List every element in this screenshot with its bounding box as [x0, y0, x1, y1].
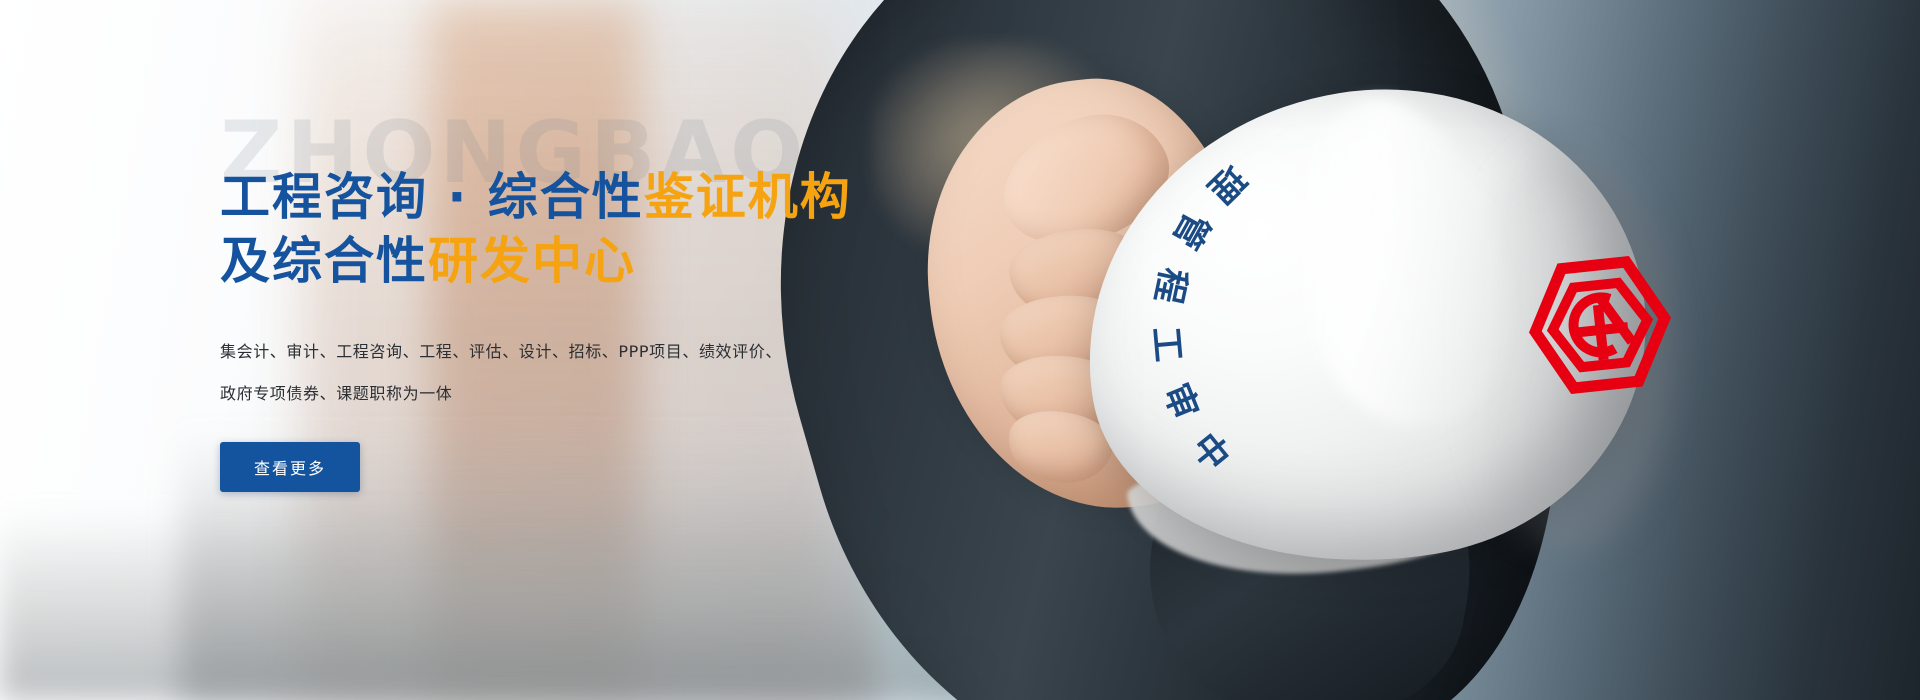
helmet-char-5: 管	[1163, 204, 1225, 259]
headline-line1-gold: 鉴证机构	[644, 168, 852, 226]
view-more-button[interactable]: 查看更多	[220, 442, 360, 492]
page-title: 工程咨询 · 综合性鉴证机构 及综合性研发中心	[220, 165, 980, 293]
headline-line2-blue: 及综合性	[220, 232, 428, 290]
hero-banner: 中审工程管理 ZHONGBAO 工程咨询 · 综合性鉴证机构 及综合性研发中心	[0, 0, 1920, 700]
helmet-char-2: 审	[1153, 375, 1213, 427]
headline-line2-gold: 研发中心	[428, 232, 636, 290]
helmet-char-3: 工	[1143, 324, 1197, 363]
helmet-char-6: 理	[1199, 156, 1260, 217]
hero-description: 集会计、审计、工程咨询、工程、评估、设计、招标、PPP项目、绩效评价、 政府专项…	[220, 331, 820, 416]
helmet-char-1: 中	[1182, 421, 1244, 480]
description-line-1: 集会计、审计、工程咨询、工程、评估、设计、招标、PPP项目、绩效评价、	[220, 342, 782, 361]
zhongbao-hexagon-logo	[1518, 243, 1683, 408]
headline-line-2: 及综合性研发中心	[220, 229, 980, 293]
headline-line1-blue: 工程咨询 · 综合性	[220, 168, 644, 226]
headline-line-1: 工程咨询 · 综合性鉴证机构	[220, 165, 980, 229]
hero-content: ZHONGBAO 工程咨询 · 综合性鉴证机构 及综合性研发中心 集会计、审计、…	[220, 110, 980, 492]
helmet-char-4: 程	[1145, 264, 1202, 309]
description-line-2: 政府专项债券、课题职称为一体	[220, 373, 820, 415]
